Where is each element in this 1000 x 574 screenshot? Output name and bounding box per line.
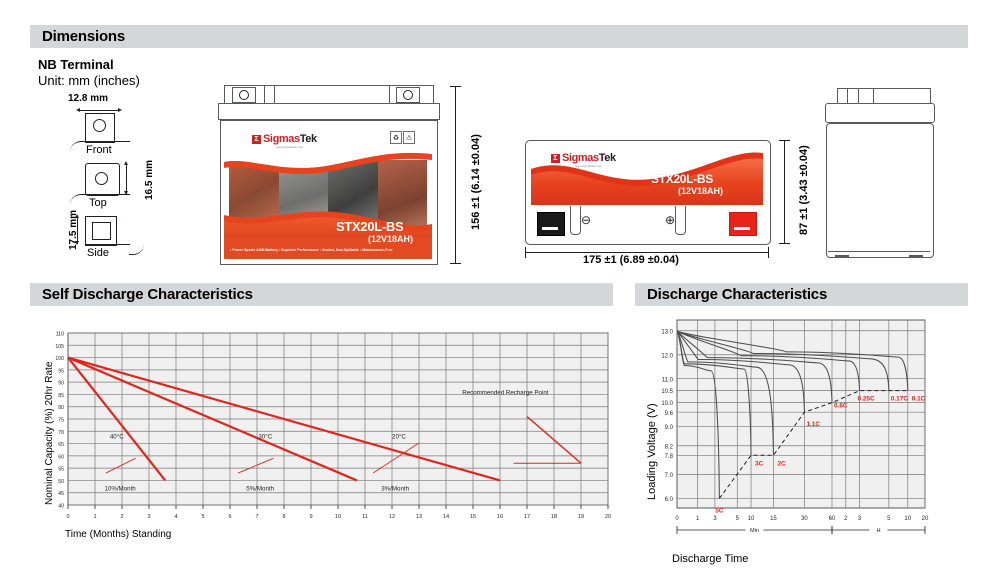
section-header-dimensions: Dimensions <box>30 25 968 48</box>
dc-y-tick-label: 10.5 <box>661 389 673 395</box>
sd-annotation: 5%/Month <box>246 485 274 492</box>
dc-rate-label-0.17C: 0.17C <box>891 396 908 403</box>
sd-x-tick-label: 19 <box>578 514 584 520</box>
sd-y-tick-label: 50 <box>58 479 64 485</box>
dc-x-tick-label: 5 <box>736 516 740 522</box>
sd-y-tick-label: 75 <box>58 418 64 424</box>
battery-length-tick-right <box>768 247 769 258</box>
terminal-pad-negative <box>537 212 565 236</box>
terminal-top-view-label: Top <box>89 197 107 210</box>
battery-height-tick-top <box>450 86 461 87</box>
sd-x-tick-label: 17 <box>524 514 530 520</box>
battery-front-label: Σ SigmasTek www.sigmastek.com ♻ ⚠ STX20L… <box>224 124 432 259</box>
dc-rate-label-2C: 2C <box>777 460 786 467</box>
dc-y-tick-label: 12.0 <box>661 353 673 359</box>
terminal-unit-label: Unit: mm (inches) <box>38 74 140 89</box>
brand-url: www.sigmastek.com <box>276 145 303 149</box>
dc-x-tick-label: 0 <box>675 516 679 522</box>
dc-x-tick-label: 5 <box>887 516 891 522</box>
sd-x-tick-label: 14 <box>443 514 449 520</box>
sd-x-tick-label: 16 <box>497 514 503 520</box>
battery-end-case <box>826 123 934 258</box>
battery-recycle-icon: ⚠ <box>403 131 415 144</box>
terminal-top-base-curve <box>70 194 86 205</box>
self-discharge-chart: 4045505560657075808590951001051100123456… <box>30 325 615 530</box>
battery-side-brand-logo: Σ SigmasTek <box>551 152 616 164</box>
sd-annotation: Recommended Recharge Point <box>462 389 549 396</box>
terminal-side-view-label: Side <box>87 247 109 260</box>
sd-x-tick-label: 11 <box>362 514 368 520</box>
dc-rate-label-3C: 3C <box>755 460 764 467</box>
dc-rate-label-0.6C: 0.6C <box>834 403 848 410</box>
battery-voltage-side: (12V18AH) <box>678 186 723 196</box>
sd-y-tick-label: 40 <box>58 504 64 510</box>
battery-vent-rib-1 <box>264 85 265 103</box>
dc-y-tick-label: 9.6 <box>665 411 674 417</box>
terminal-width-arrow-right <box>118 108 122 112</box>
battery-width-tick-top <box>779 140 790 141</box>
terminal-depth-arrow-down <box>124 191 128 195</box>
terminal-side-base-curve <box>129 244 144 255</box>
sd-y-tick-label: 65 <box>58 442 64 448</box>
brand-name: SigmasTek <box>263 133 317 145</box>
sd-x-tick-label: 9 <box>309 514 312 520</box>
battery-vent-slot-left <box>570 206 581 235</box>
dc-rate-label-1.1C: 1.1C <box>806 421 820 428</box>
dc-rate-label-0.1C: 0.1C <box>912 396 926 403</box>
terminal-pad-positive-slot <box>734 227 750 230</box>
battery-end-foot-right <box>909 255 923 258</box>
battery-vent-rib-2 <box>274 85 275 103</box>
section-header-self-discharge: Self Discharge Characteristics <box>30 283 613 306</box>
brand-name: SigmasTek <box>562 152 616 164</box>
battery-end-base-line <box>828 251 930 252</box>
battery-length-dimline <box>525 252 769 253</box>
battery-vent-rib-3 <box>389 85 390 103</box>
section-header-discharge: Discharge Characteristics <box>635 283 968 306</box>
battery-length-dimension: 175 ±1 (6.89 ±0.04) <box>583 254 679 267</box>
sd-x-tick-label: 10 <box>335 514 341 520</box>
dc-scale-label-min: Min <box>750 528 759 534</box>
sd-x-tick-label: 4 <box>174 514 177 520</box>
terminal-pad-negative-slot <box>542 227 558 230</box>
dc-x-tick-label: 60 <box>829 516 836 522</box>
sd-x-tick-label: 15 <box>470 514 476 520</box>
battery-end-rib-2 <box>858 88 859 104</box>
battery-width-tick-bottom <box>779 243 790 244</box>
dc-x-tick-label: 30 <box>801 516 808 522</box>
dc-y-tick-label: 13.0 <box>661 329 673 335</box>
recycle-icon: ♻ <box>390 131 402 144</box>
dc-x-tick-label: 20 <box>922 516 929 522</box>
sd-x-tick-label: 3 <box>147 514 150 520</box>
sd-x-tick-label: 8 <box>282 514 285 520</box>
terminal-height-dimension: 17.5 mm <box>68 210 80 250</box>
sd-annotation: 10%/Month <box>104 485 136 492</box>
battery-end-foot-left <box>835 255 849 258</box>
sd-y-tick-label: 105 <box>55 344 64 350</box>
battery-model-front: STX20L-BS <box>336 219 403 234</box>
terminal-depth-dimension: 16.5 mm <box>144 160 156 200</box>
brand-mark-icon: Σ <box>551 154 560 163</box>
discharge-x-axis-title: Discharge Time <box>672 553 748 565</box>
terminal-front-view-label: Front <box>86 144 112 157</box>
sd-x-tick-label: 12 <box>389 514 395 520</box>
battery-side-view: Σ SigmasTek www.sigmastek.com STX20L-BS … <box>525 140 771 245</box>
battery-tagline: • Power Sports AGM Battery • Superior Pe… <box>230 248 393 252</box>
battery-voltage-front: (12V18AH) <box>368 234 413 244</box>
battery-length-tick-left <box>525 247 526 258</box>
sd-x-tick-label: 6 <box>228 514 231 520</box>
sd-annotation: 30°C <box>258 434 272 441</box>
sd-y-tick-label: 60 <box>58 454 64 460</box>
sd-annotation: 20°C <box>392 434 406 441</box>
sd-x-tick-label: 18 <box>551 514 557 520</box>
battery-terminal-right-hole <box>403 90 413 100</box>
battery-vent-slot-right <box>675 206 686 235</box>
dc-y-tick-label: 9.0 <box>665 425 674 431</box>
self-discharge-x-axis-title: Time (Months) Standing <box>65 529 171 540</box>
dc-x-tick-label: 10 <box>748 516 755 522</box>
terminal-depth-dimline <box>126 163 127 194</box>
dc-y-tick-label: 11.0 <box>662 377 674 383</box>
sd-x-tick-label: 0 <box>66 514 69 520</box>
terminal-width-dimension: 12.8 mm <box>68 93 108 105</box>
sd-y-tick-label: 55 <box>58 467 64 473</box>
battery-terminal-left-hole <box>239 90 249 100</box>
battery-brand-logo: Σ SigmasTek <box>252 133 317 145</box>
sd-x-tick-label: 13 <box>416 514 422 520</box>
section-title-dimensions: Dimensions <box>30 28 125 45</box>
terminal-positive-symbol: ⊕ <box>665 214 675 228</box>
sd-x-tick-label: 5 <box>201 514 204 520</box>
battery-height-dimension: 156 ±1 (6.14 ±0.04) <box>470 134 483 230</box>
sd-annotation: 3%/Month <box>381 485 409 492</box>
dc-x-tick-label: 3 <box>858 516 862 522</box>
dc-rate-label-0.25C: 0.25C <box>858 396 875 403</box>
sd-y-tick-label: 100 <box>55 356 64 362</box>
terminal-front-base-line <box>85 141 130 142</box>
discharge-chart: 13.012.011.010.510.09.69.08.27.87.06.001… <box>635 310 975 550</box>
dc-x-tick-label: 1 <box>696 516 700 522</box>
sd-x-tick-label: 1 <box>93 514 96 520</box>
dc-scale-label-hour: H <box>876 528 880 534</box>
sd-y-tick-label: 90 <box>58 381 64 387</box>
sd-x-tick-label: 2 <box>120 514 123 520</box>
battery-width-dimension: 87 ±1 (3.43 ±0.04) <box>798 145 811 235</box>
dc-y-tick-label: 10.0 <box>661 401 673 407</box>
brand-mark-icon: Σ <box>252 135 261 144</box>
battery-end-lid <box>825 103 935 123</box>
battery-side-label: Σ SigmasTek www.sigmastek.com STX20L-BS … <box>531 145 763 205</box>
sd-y-tick-label: 45 <box>58 491 64 497</box>
dc-x-tick-label: 2 <box>844 516 848 522</box>
battery-lid <box>218 103 440 120</box>
dc-rate-label-5C: 5C <box>715 507 724 514</box>
terminal-top-hole <box>95 172 108 185</box>
terminal-front-base-curve <box>70 141 86 152</box>
battery-front-view: Σ SigmasTek www.sigmastek.com ♻ ⚠ STX20L… <box>218 85 440 265</box>
dc-y-tick-label: 8.2 <box>665 444 674 450</box>
terminal-side-base-line <box>85 244 130 245</box>
dc-y-tick-label: 6.0 <box>665 497 674 503</box>
sd-y-tick-label: 95 <box>58 368 64 374</box>
dc-x-tick-label: 3 <box>713 516 717 522</box>
terminal-negative-symbol: ⊖ <box>581 214 591 228</box>
dc-y-tick-label: 7.8 <box>665 454 674 460</box>
dc-x-tick-label: 15 <box>770 516 777 522</box>
battery-end-rib-3 <box>873 88 874 104</box>
sd-y-tick-label: 85 <box>58 393 64 399</box>
dc-x-tick-label: 10 <box>904 516 911 522</box>
sd-x-tick-label: 7 <box>255 514 258 520</box>
terminal-side-inner <box>92 222 111 240</box>
brand-url: www.sigmastek.com <box>575 164 602 168</box>
sd-y-tick-label: 110 <box>56 332 64 338</box>
battery-model-side: STX20L-BS <box>651 172 713 186</box>
terminal-type-label: NB Terminal <box>38 58 114 73</box>
battery-end-view <box>825 88 943 265</box>
terminal-front-hole <box>93 119 106 132</box>
battery-height-dimline <box>455 86 456 264</box>
battery-width-dimline <box>784 140 785 244</box>
terminal-width-dimline <box>78 110 120 111</box>
dc-y-tick-label: 7.0 <box>665 473 674 479</box>
terminal-depth-arrow-up <box>124 161 128 165</box>
sd-y-tick-label: 80 <box>58 405 64 411</box>
terminal-width-arrow-left <box>76 108 80 112</box>
terminal-pad-positive <box>729 212 757 236</box>
sd-x-tick-label: 20 <box>605 514 611 520</box>
battery-end-rib-1 <box>847 88 848 104</box>
battery-height-tick-bottom <box>450 263 461 264</box>
sd-annotation: 40°C <box>110 434 124 441</box>
section-title-self-discharge: Self Discharge Characteristics <box>30 286 253 303</box>
sd-y-tick-label: 70 <box>58 430 64 436</box>
section-title-discharge: Discharge Characteristics <box>635 286 827 303</box>
